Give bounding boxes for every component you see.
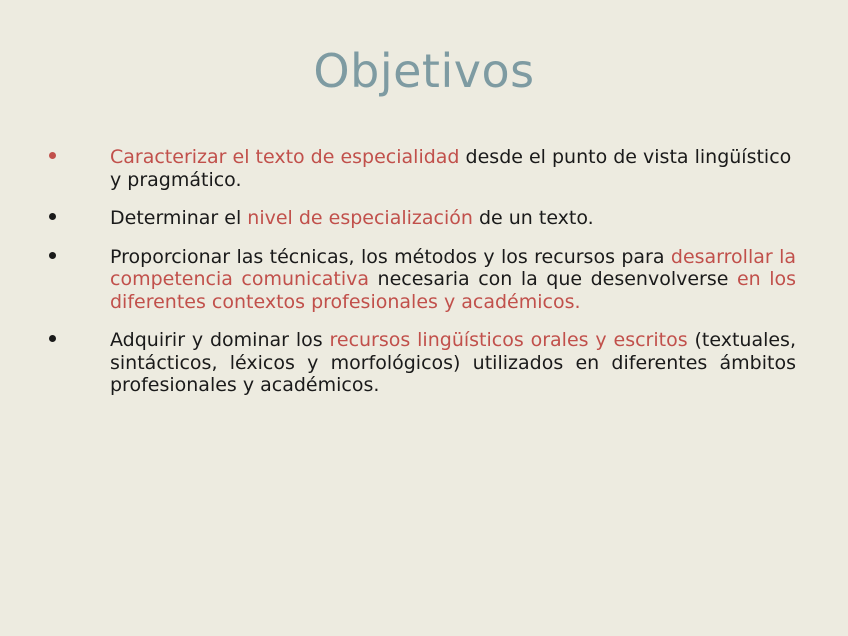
list-item: Determinar el nivel de especialización d… xyxy=(44,207,796,230)
bullet-list: Caracterizar el texto de especialidad de… xyxy=(44,146,796,397)
body-phrase: Determinar el xyxy=(110,207,247,229)
presentation-slide: Objetivos Caracterizar el texto de espec… xyxy=(0,0,848,636)
list-item-text: Proporcionar las técnicas, los métodos y… xyxy=(110,246,796,314)
list-item-text: Caracterizar el texto de especialidad de… xyxy=(110,146,796,191)
body-phrase: necesaria con la que desenvolverse xyxy=(369,268,737,290)
list-item: Caracterizar el texto de especialidad de… xyxy=(44,146,796,191)
list-item-text: Determinar el nivel de especialización d… xyxy=(110,207,796,230)
highlighted-phrase: Caracterizar el texto de especialidad xyxy=(110,146,460,168)
highlighted-phrase: recursos lingüísticos orales y escritos xyxy=(329,329,687,351)
bullet-dot-icon xyxy=(49,335,56,342)
list-item: Proporcionar las técnicas, los métodos y… xyxy=(44,246,796,314)
bullet-dot-icon xyxy=(49,213,56,220)
bullet-dot-icon xyxy=(49,252,56,259)
body-phrase: Adquirir y dominar los xyxy=(110,329,329,351)
list-item-text: Adquirir y dominar los recursos lingüíst… xyxy=(110,329,796,397)
highlighted-phrase: nivel de especialización xyxy=(247,207,473,229)
body-phrase: Proporcionar las técnicas, los métodos y… xyxy=(110,246,671,268)
bullet-dot-icon xyxy=(49,152,56,159)
body-phrase: de un texto. xyxy=(473,207,594,229)
page-title: Objetivos xyxy=(0,47,848,95)
list-item: Adquirir y dominar los recursos lingüíst… xyxy=(44,329,796,397)
